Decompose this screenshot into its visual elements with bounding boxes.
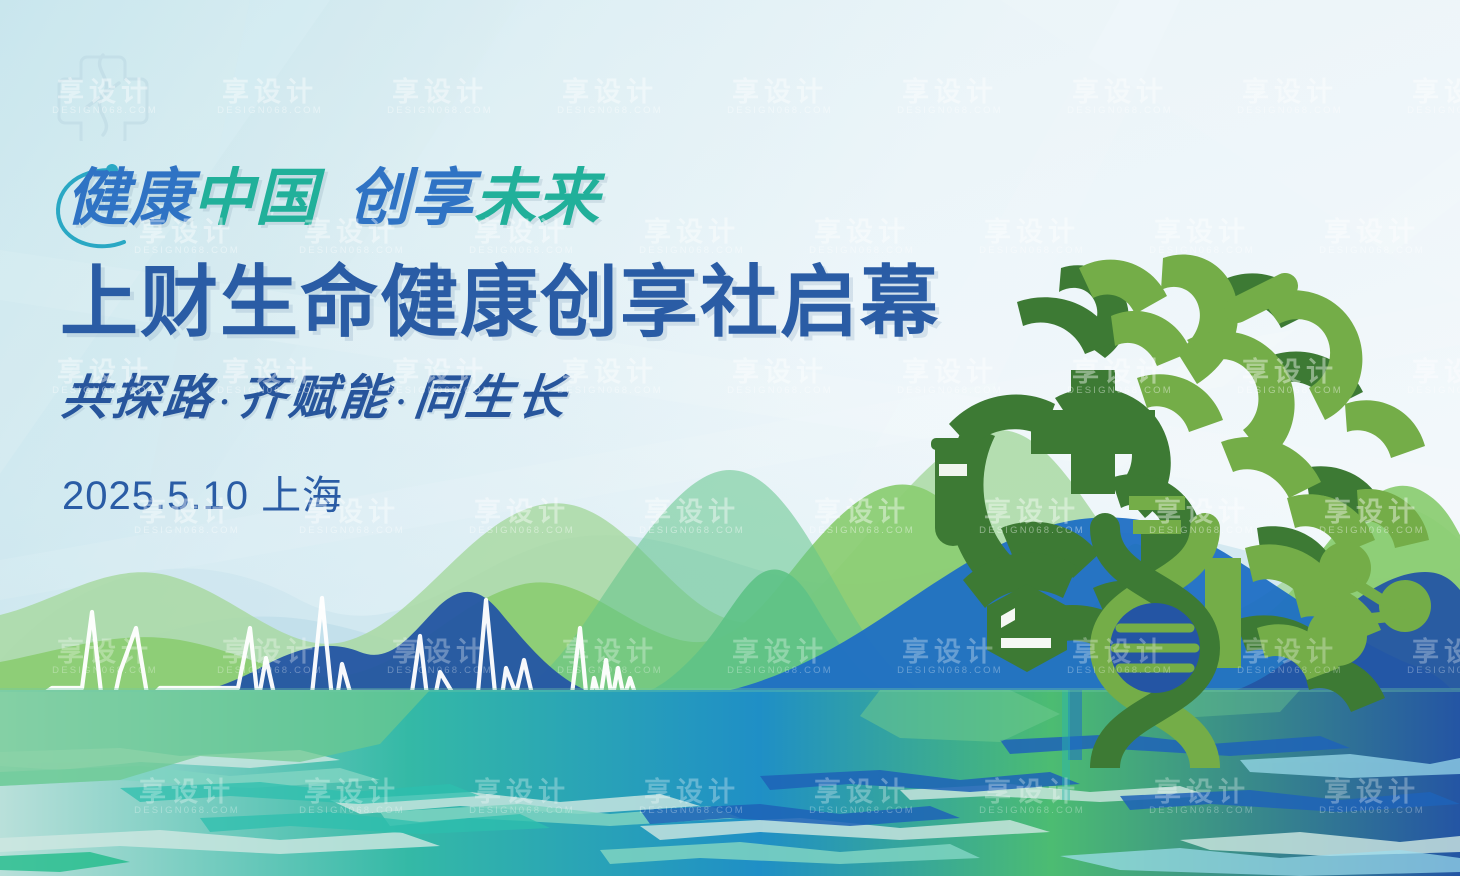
health-tree-icon: [905, 228, 1445, 768]
kicker-part-3: 创享: [348, 164, 474, 233]
poster-tagline: 共探路·齐赋能·同生长: [58, 358, 571, 428]
event-poster: 健康中国创享未来 上财生命健康创享社启幕 共探路·齐赋能·同生长 2025.5.…: [0, 0, 1460, 876]
kicker-part-2: 中国: [192, 164, 318, 233]
poster-kicker: 健康中国创享未来: [66, 147, 600, 237]
kicker-part-4: 未来: [474, 164, 600, 233]
event-date-location: 2025.5.10 上海: [62, 463, 343, 521]
tagline-item-1: 共探路: [59, 372, 218, 425]
kicker-part-1: 健康: [66, 164, 192, 233]
test-tube-icon: [931, 438, 975, 546]
poster-text-block: 健康中国创享未来 上财生命健康创享社启幕 共探路·齐赋能·同生长 2025.5.…: [0, 0, 760, 560]
tagline-item-3: 同生长: [412, 372, 571, 425]
page-title: 上财生命健康创享社启幕: [60, 240, 940, 352]
tagline-item-2: 齐赋能: [235, 372, 394, 425]
